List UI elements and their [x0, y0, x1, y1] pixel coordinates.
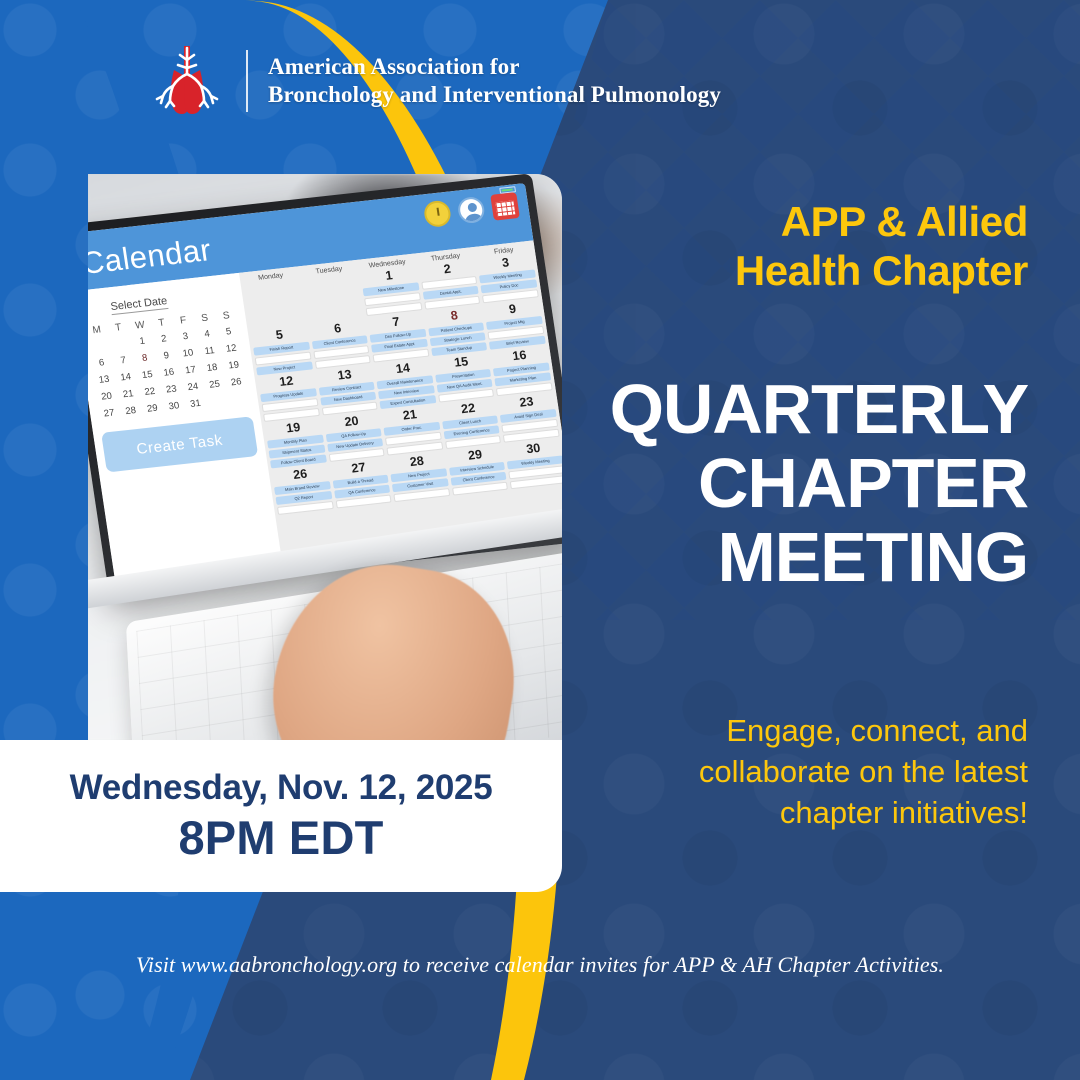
- footer-text: Visit www.aabronchology.org to receive c…: [136, 952, 944, 977]
- calendar-day-cell[interactable]: 3Weekly MeetingPolicy Doc: [477, 254, 539, 304]
- calendar-day-cell[interactable]: 2Dental Appt.: [419, 260, 481, 310]
- calendar-icon[interactable]: [490, 192, 520, 221]
- event-date: Wednesday, Nov. 12, 2025: [70, 768, 493, 808]
- calendar-day-cell[interactable]: 16Project PlanningMarketing Plan: [491, 347, 553, 397]
- calendar-day-cell[interactable]: 8Patient CheckupsStrategic LunchTeam Sta…: [426, 307, 488, 357]
- calendar-day-cell[interactable]: 28New ProjectCustomer Visit: [388, 452, 450, 502]
- calendar-day-cell[interactable]: 12Progress Update: [258, 372, 320, 422]
- calendar-day-cell[interactable]: 19Monthly PlanShipment StatusFollow Clie…: [265, 419, 327, 469]
- calendar-day-cell[interactable]: 14Overall MaintenanceNew InterviewExpert…: [374, 359, 436, 409]
- calendar-day-cell[interactable]: 6Client Conference: [309, 319, 371, 369]
- lungs-bronchial-tree-icon: [148, 40, 226, 122]
- mini-calendar-date[interactable]: 27: [97, 404, 121, 423]
- mini-calendar-date[interactable]: 28: [119, 401, 143, 420]
- laptop-photo: Calendar Select Date MTWTFSS 12345678910…: [88, 174, 562, 740]
- create-task-button[interactable]: Create Task: [101, 416, 258, 472]
- footer: Visit www.aabronchology.org to receive c…: [0, 952, 1080, 978]
- calendar-day-cell[interactable]: 29Interview ScheduleClient Conference: [447, 446, 509, 496]
- calendar-day-cell[interactable]: 9Project MtgBrief Review: [484, 300, 546, 350]
- chapter-kicker: APP & Allied Health Chapter: [588, 198, 1028, 295]
- mini-calendar-blank: [227, 390, 251, 409]
- event-details-card: Wednesday, Nov. 12, 2025 8PM EDT: [0, 740, 562, 892]
- calendar-day-cell[interactable]: 30Weekly Meeting: [505, 440, 562, 490]
- mini-calendar-blank: [205, 392, 229, 411]
- mini-calendar-date[interactable]: 29: [140, 399, 164, 418]
- calendar-day-cell[interactable]: [302, 273, 364, 323]
- calendar-day-cell[interactable]: [244, 279, 306, 329]
- clock-icon[interactable]: [423, 200, 453, 229]
- select-date-label: Select Date: [110, 295, 169, 315]
- week-rows: 1New Milestone2Dental Appt.3Weekly Meeti…: [244, 254, 562, 515]
- calendar-day-cell[interactable]: 23Avoid Sign Deal: [498, 393, 560, 443]
- mini-calendar-date[interactable]: 31: [183, 394, 207, 413]
- page-title: QUARTERLY CHAPTER MEETING: [568, 372, 1028, 595]
- poster-canvas: American Association for Bronchology and…: [0, 0, 1080, 1080]
- calendar-day-cell[interactable]: 13Review ContractNew Dashboard: [316, 366, 378, 416]
- right-content-column: APP & Allied Health Chapter QUARTERLY CH…: [560, 0, 1080, 1080]
- tagline: Engage, connect, and collaborate on the …: [628, 710, 1028, 834]
- calendar-day-cell[interactable]: 26Main Brand ReviewQ2 Report: [272, 465, 334, 515]
- logo-divider: [246, 50, 248, 112]
- calendar-day-cell[interactable]: 21Order Proc.: [381, 406, 443, 456]
- calendar-day-cell[interactable]: 27Build a ThreadQA Conference: [330, 459, 392, 509]
- calendar-app-toolbar: [423, 192, 520, 228]
- calendar-day-cell[interactable]: 1New Milestone: [360, 266, 422, 316]
- calendar-day-cell[interactable]: 20QA Follow-UpNew Update Delivery: [323, 412, 385, 462]
- mini-calendar-date[interactable]: 30: [162, 397, 186, 416]
- mini-calendar-grid[interactable]: 1234567891011121314151617181920212223242…: [88, 322, 251, 423]
- event-time: 8PM EDT: [178, 810, 383, 865]
- calendar-day-cell[interactable]: 22Client LunchEvening Conference: [440, 400, 502, 450]
- calendar-day-cell[interactable]: 7Des Follow-UpFinal Estate Appt: [367, 313, 429, 363]
- calendar-app-title: Calendar: [88, 232, 214, 282]
- user-account-icon[interactable]: [456, 196, 486, 225]
- calendar-day-cell[interactable]: 5Finish ReportNew Project: [251, 326, 313, 376]
- calendar-day-cell[interactable]: 15PresentationNew QA Audit Meet.: [433, 353, 495, 403]
